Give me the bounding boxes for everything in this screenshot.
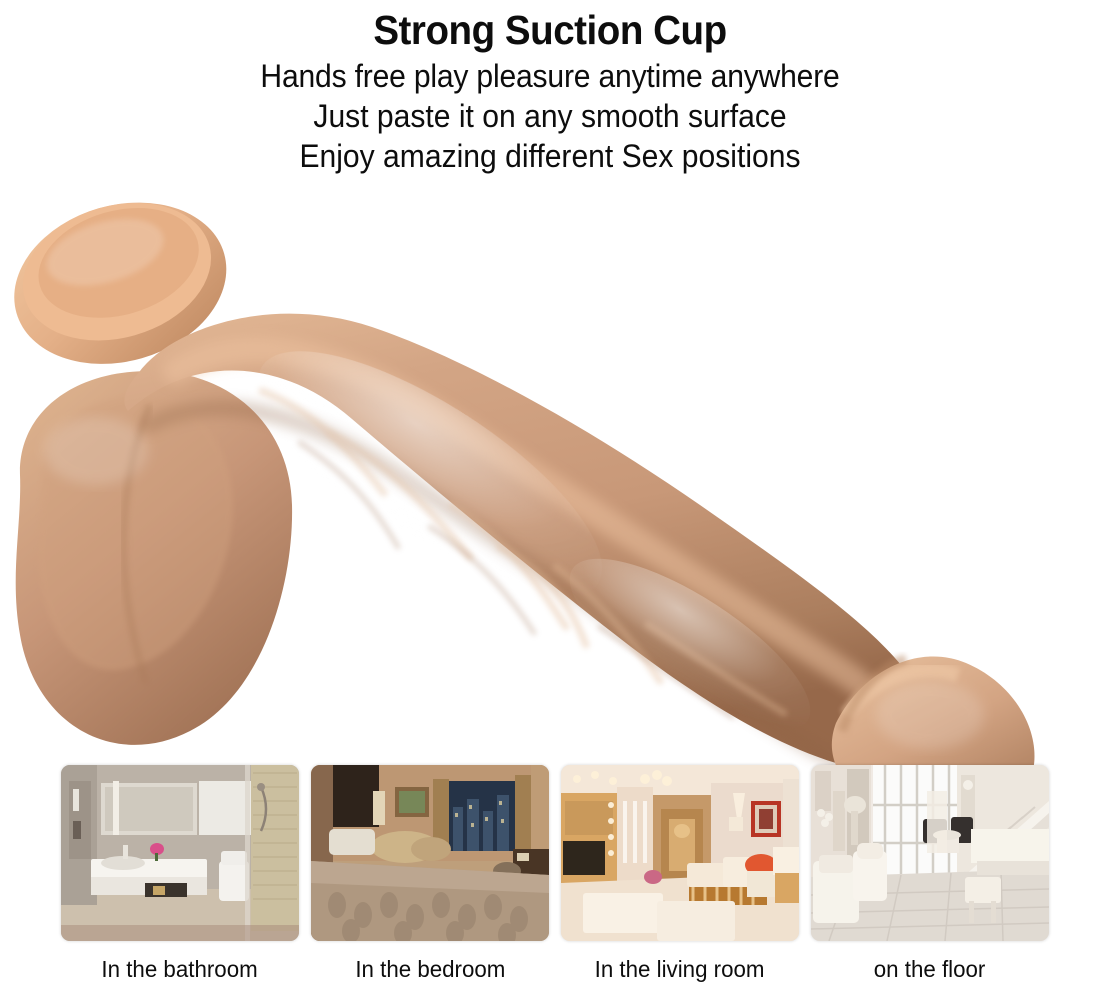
thumbnail-image-bathroom[interactable] bbox=[61, 765, 299, 941]
subtitle-line-2: Just paste it on any smooth surface bbox=[33, 96, 1067, 136]
thumbnail-image-living-room[interactable] bbox=[561, 765, 799, 941]
thumbnail-image-floor[interactable] bbox=[811, 765, 1049, 941]
thumbnail-cell-bedroom[interactable]: In the bedroom bbox=[310, 765, 550, 997]
thumbnail-caption-floor: on the floor bbox=[874, 955, 986, 983]
header-text-block: Strong Suction Cup Hands free play pleas… bbox=[0, 0, 1100, 176]
thumbnail-cell-floor[interactable]: on the floor bbox=[810, 765, 1050, 997]
product-hero-image bbox=[0, 175, 1100, 775]
room-thumbnail-strip: In the bathroom bbox=[60, 765, 1050, 997]
thumbnail-image-bedroom[interactable] bbox=[311, 765, 549, 941]
page-title: Strong Suction Cup bbox=[33, 0, 1067, 56]
subtitle-line-3: Enjoy amazing different Sex positions bbox=[33, 136, 1067, 176]
thumbnail-caption-living-room: In the living room bbox=[595, 955, 765, 983]
thumbnail-caption-bathroom: In the bathroom bbox=[102, 955, 258, 983]
thumbnail-cell-bathroom[interactable]: In the bathroom bbox=[60, 765, 300, 997]
thumbnail-cell-living-room[interactable]: In the living room bbox=[560, 765, 800, 997]
subtitle-line-1: Hands free play pleasure anytime anywher… bbox=[33, 56, 1067, 96]
thumbnail-caption-bedroom: In the bedroom bbox=[355, 955, 505, 983]
